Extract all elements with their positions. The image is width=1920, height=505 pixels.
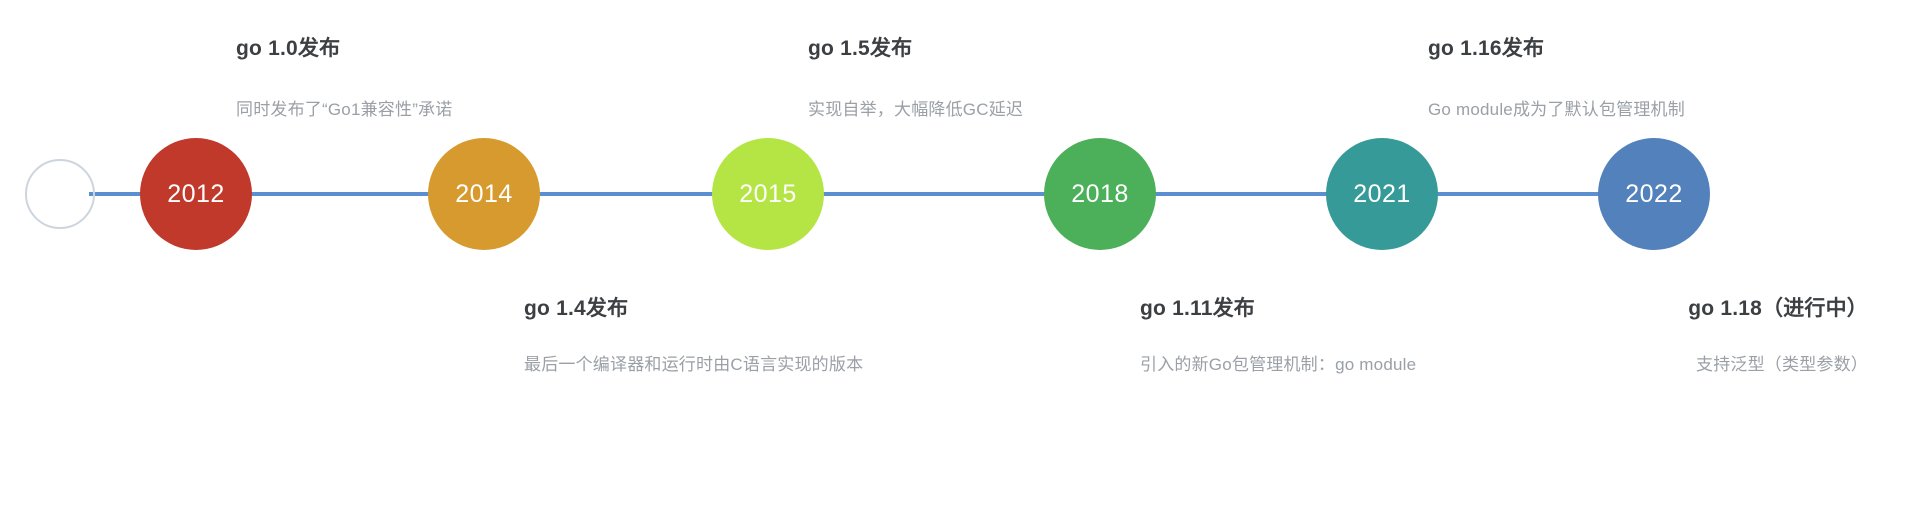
label-desc: 最后一个编译器和运行时由C语言实现的版本 (524, 350, 863, 375)
label-title: go 1.16发布 (1428, 32, 1544, 62)
label-desc: 引入的新Go包管理机制：go module (1140, 350, 1416, 375)
timeline-diagram: 2012 2014 2015 2018 2021 2022 go 1.0发布 同… (0, 0, 1920, 505)
timeline-node-2021[interactable]: 2021 (1326, 138, 1438, 250)
label-desc: Go module成为了默认包管理机制 (1428, 95, 1685, 120)
timeline-node-2015[interactable]: 2015 (712, 138, 824, 250)
timeline-node-2014[interactable]: 2014 (428, 138, 540, 250)
timeline-node-2018[interactable]: 2018 (1044, 138, 1156, 250)
label-title: go 1.0发布 (236, 32, 340, 62)
label-title: go 1.5发布 (808, 32, 912, 62)
label-title: go 1.18（进行中） (1688, 292, 1868, 322)
label-desc: 同时发布了“Go1兼容性”承诺 (236, 95, 452, 120)
empty-start-node (25, 159, 95, 229)
label-desc: 支持泛型（类型参数） (1696, 350, 1868, 375)
label-title: go 1.4发布 (524, 292, 628, 322)
label-desc: 实现自举，大幅降低GC延迟 (808, 95, 1023, 120)
label-title: go 1.11发布 (1140, 292, 1255, 322)
timeline-node-2012[interactable]: 2012 (140, 138, 252, 250)
timeline-node-2022[interactable]: 2022 (1598, 138, 1710, 250)
